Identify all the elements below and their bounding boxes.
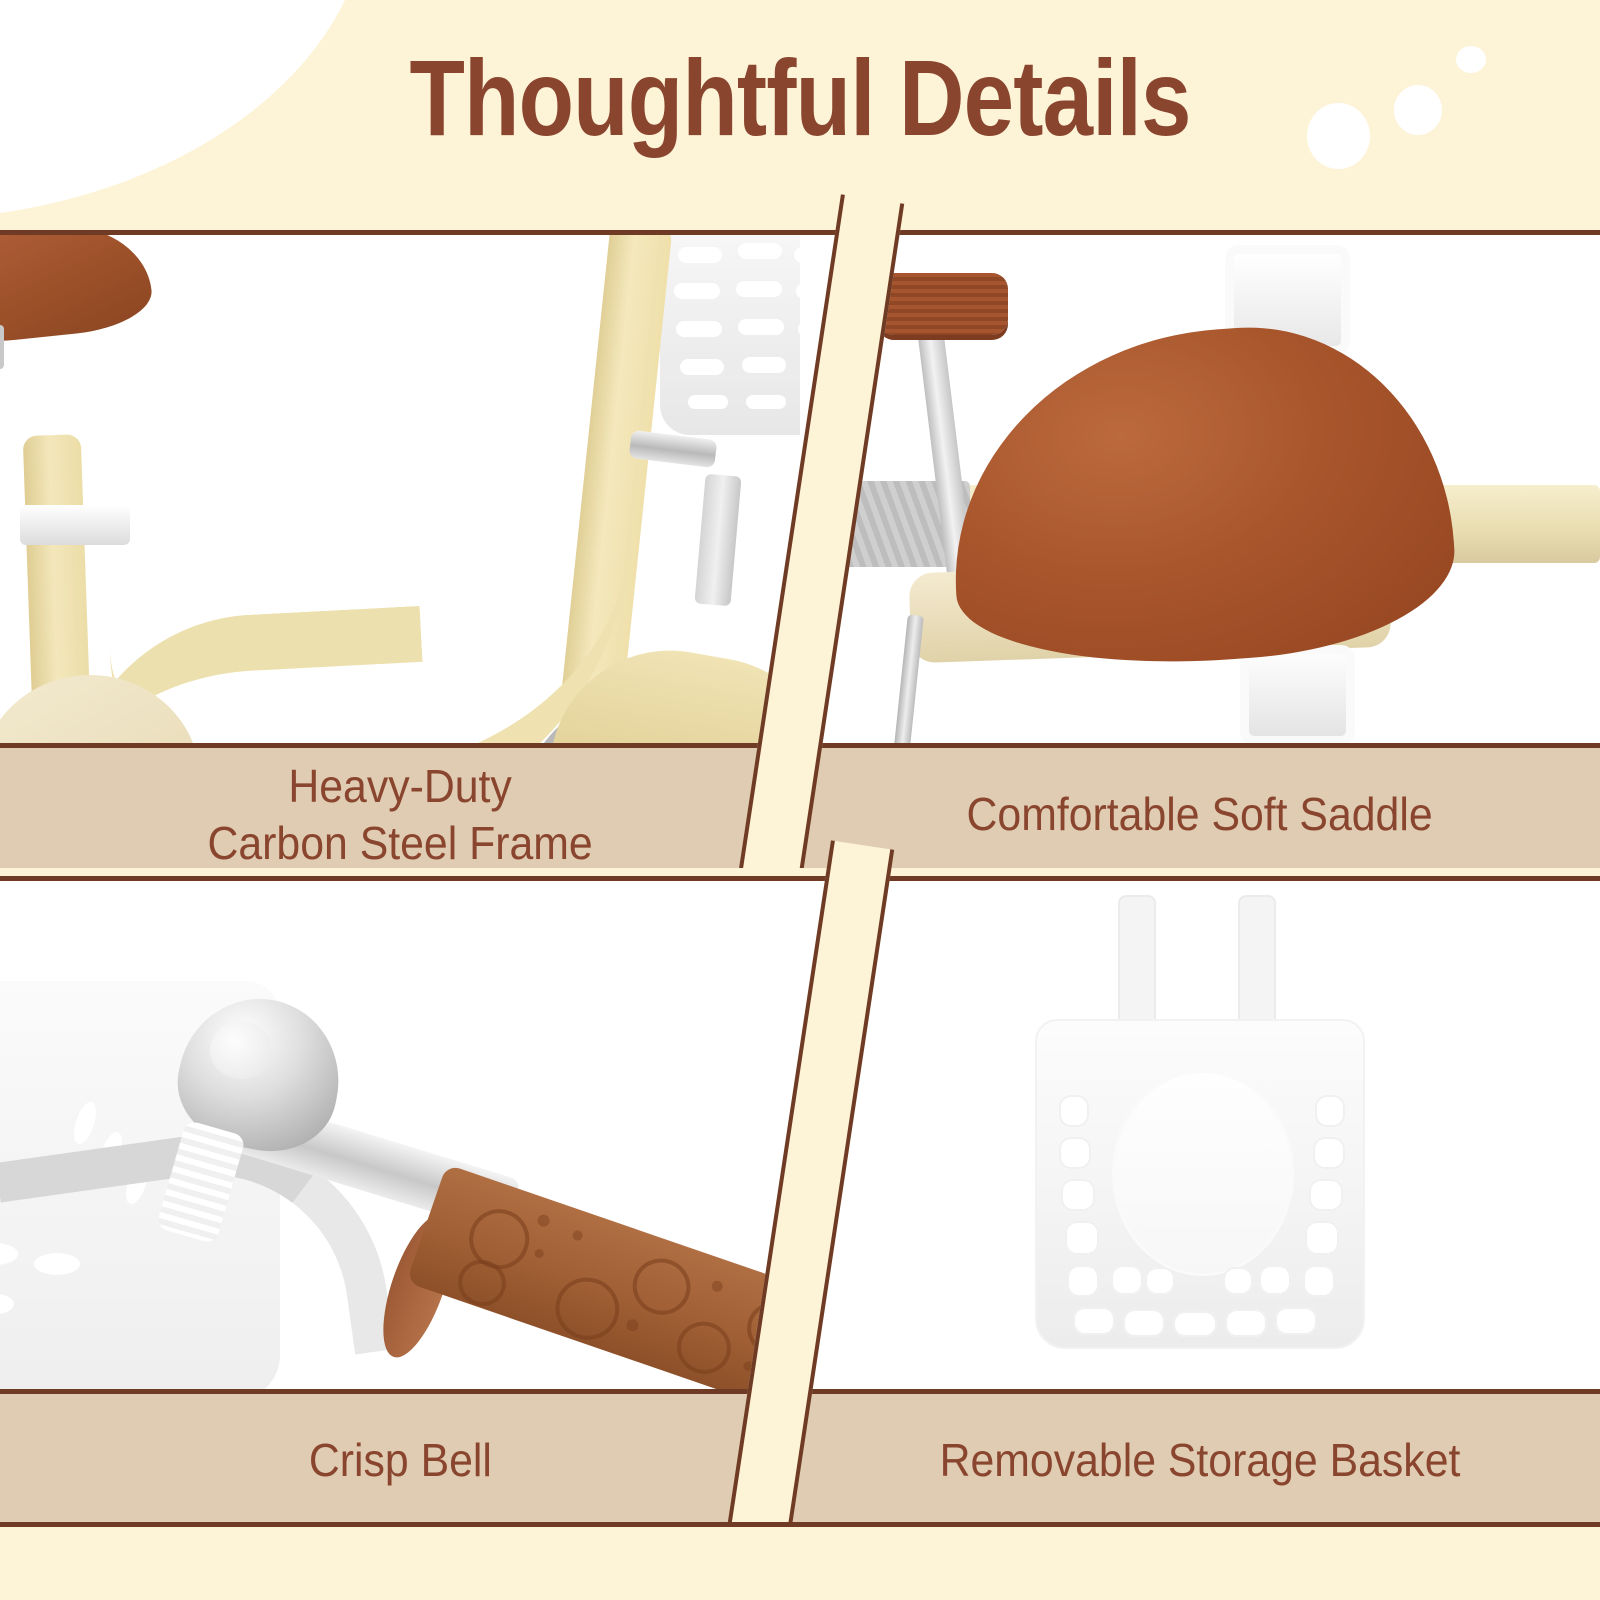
page-title: Thoughtful Details — [128, 38, 1472, 158]
caption-frame: Heavy-Duty Carbon Steel Frame — [0, 743, 800, 881]
saddle-photo-seat — [939, 314, 1461, 678]
bell-photo — [0, 881, 800, 1389]
caption-bell: Crisp Bell — [0, 1389, 800, 1527]
feature-row-bottom: Crisp Bell — [0, 881, 1600, 1527]
caption-frame-text: Heavy-Duty Carbon Steel Frame — [207, 758, 592, 872]
frame-photo-brake — [694, 474, 741, 607]
caption-basket: Removable Storage Basket — [800, 1389, 1600, 1527]
frame-photo-seatpost — [0, 325, 4, 369]
caption-bell-text: Crisp Bell — [308, 1432, 491, 1489]
infographic-page: Thoughtful Details — [0, 0, 1600, 1600]
feature-cell-frame: Heavy-Duty Carbon Steel Frame — [0, 235, 800, 881]
basket-photo-body — [1035, 1019, 1365, 1349]
bell-photo-bell-button — [210, 1021, 272, 1079]
saddle-photo-adjust-knob — [878, 273, 1008, 335]
feature-cell-bell: Crisp Bell — [0, 881, 800, 1527]
saddle-photo-stay — [892, 615, 924, 743]
footer-strip — [0, 1527, 1600, 1600]
basket-photo — [800, 881, 1600, 1389]
saddle-photo-pedal-bottom — [1240, 645, 1355, 743]
frame-photo — [0, 235, 800, 743]
basket-photo-center-panel — [1115, 1073, 1291, 1273]
feature-cell-basket: Removable Storage Basket — [800, 881, 1600, 1527]
caption-saddle-text: Comfortable Soft Saddle — [967, 786, 1433, 843]
feature-cell-saddle: Comfortable Soft Saddle — [800, 235, 1600, 881]
header-banner: Thoughtful Details — [0, 0, 1600, 234]
feature-grid: Heavy-Duty Carbon Steel Frame — [0, 235, 1600, 1527]
frame-photo-pedal — [20, 505, 130, 545]
caption-saddle: Comfortable Soft Saddle — [800, 743, 1600, 881]
feature-row-top: Heavy-Duty Carbon Steel Frame — [0, 235, 1600, 881]
bell-photo-grip — [406, 1164, 800, 1389]
saddle-photo — [800, 235, 1600, 743]
caption-basket-text: Removable Storage Basket — [940, 1432, 1461, 1489]
